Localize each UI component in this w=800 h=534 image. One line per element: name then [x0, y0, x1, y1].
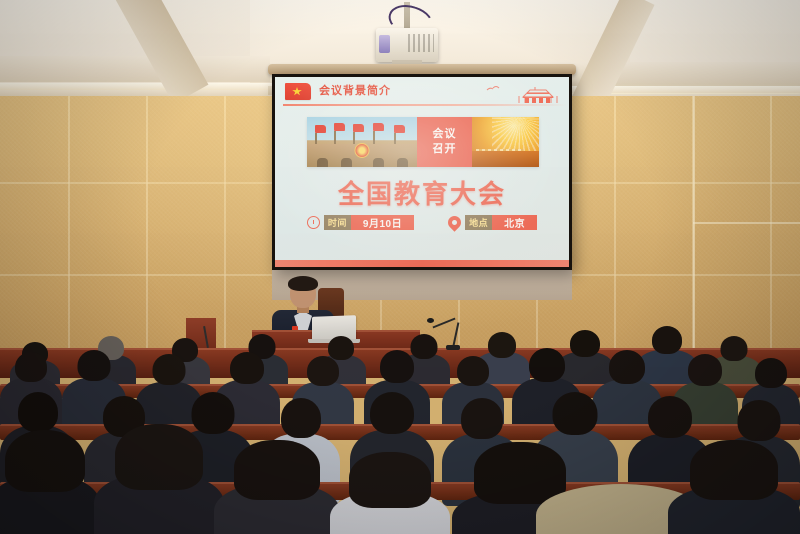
audience-member [214, 440, 340, 534]
ceiling-projector [376, 28, 438, 62]
national-emblem-icon [355, 143, 370, 158]
band-caption-line2: 召开 [433, 143, 457, 156]
audience-member [0, 430, 100, 534]
slide-image-band: 会议 召开 [307, 117, 539, 167]
wall-seam-horizontal [693, 222, 800, 224]
projector-vent [408, 34, 434, 52]
slide-canvas: 会议背景简介 [275, 77, 569, 267]
party-flag-icon [285, 83, 311, 100]
clock-icon [307, 216, 320, 229]
projector-lens-icon [379, 35, 390, 53]
band-caption-line1: 会议 [433, 128, 457, 141]
meta-location-key: 地点 [465, 215, 492, 230]
ceiling-light-cove-left [0, 83, 272, 90]
projection-screen: 会议背景简介 [272, 74, 572, 270]
audience-member [94, 424, 224, 534]
slide-header: 会议背景简介 [275, 77, 569, 107]
band-image-great-hall [472, 117, 539, 167]
slide-meta-row: 时间 9月10日 地点 北京 [275, 215, 569, 230]
microphone-head [427, 318, 434, 323]
meta-time-value: 9月10日 [351, 215, 414, 230]
projected-slide: 会议背景简介 [275, 77, 569, 267]
ceiling-beam-left [0, 56, 270, 82]
conference-room-photo: 会议背景简介 [0, 0, 800, 534]
presenter-hair [288, 276, 318, 291]
hall-stage [472, 151, 539, 167]
slide-meta-time: 时间 9月10日 [307, 215, 414, 230]
meta-location-value: 北京 [492, 215, 537, 230]
slide-footer-bar [275, 260, 569, 267]
band-caption: 会议 召开 [417, 117, 472, 167]
audience-member [330, 452, 450, 534]
band-image-tiananmen [307, 117, 417, 167]
slide-header-title: 会议背景简介 [319, 82, 391, 98]
meta-time-key: 时间 [324, 215, 351, 230]
tiananmen-line-art-icon [479, 81, 563, 105]
location-pin-icon [445, 213, 463, 231]
audience-member [668, 440, 800, 534]
slide-main-title: 全国教育大会 [275, 174, 569, 211]
slide-meta-location: 地点 北京 [448, 215, 537, 230]
